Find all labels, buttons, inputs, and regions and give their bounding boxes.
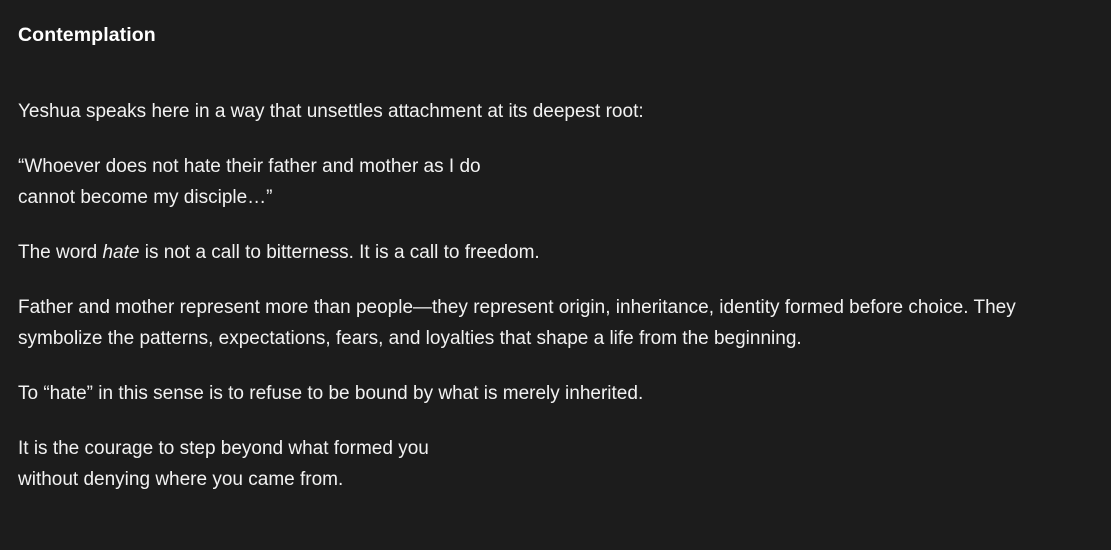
paragraph-refuse-bound: To “hate” in this sense is to refuse to … [18, 378, 1078, 409]
page-title: Contemplation [18, 22, 1081, 48]
paragraph-word-hate: The word hate is not a call to bitternes… [18, 237, 1078, 268]
paragraph-spacer [18, 213, 1081, 237]
paragraph-text-after-emphasis: is not a call to bitterness. It is a cal… [139, 242, 539, 263]
paragraph-courage: It is the courage to step beyond what fo… [18, 433, 1078, 495]
emphasized-word: hate [102, 242, 139, 263]
paragraph-intro: Yeshua speaks here in a way that unsettl… [18, 96, 1078, 127]
paragraph-text-before-emphasis: The word [18, 242, 102, 263]
paragraph-spacer [18, 268, 1081, 292]
paragraph-father-mother: Father and mother represent more than pe… [18, 292, 1078, 354]
paragraph-quotation: “Whoever does not hate their father and … [18, 151, 1078, 213]
document-page: Contemplation Yeshua speaks here in a wa… [0, 0, 1111, 550]
paragraph-spacer [18, 127, 1081, 151]
paragraph-spacer [18, 354, 1081, 378]
paragraph-spacer [18, 409, 1081, 433]
title-spacer [18, 48, 1081, 96]
